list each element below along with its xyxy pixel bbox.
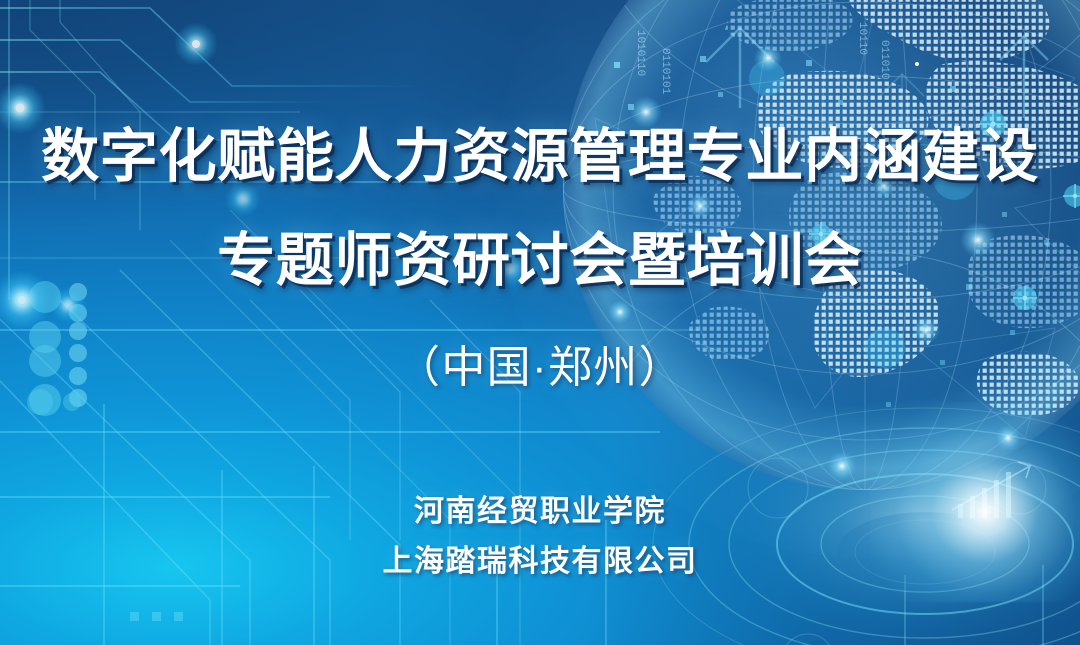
banner-text: 数字化赋能人力资源管理专业内涵建设 专题师资研讨会暨培训会 （中国·郑州） 河南…: [0, 0, 1080, 645]
title-line-2: 专题师资研讨会暨培训会: [0, 232, 1080, 290]
location-subtitle: （中国·郑州）: [0, 346, 1080, 390]
organizer-primary: 河南经贸职业学院: [0, 497, 1080, 527]
title-line-1: 数字化赋能人力资源管理专业内涵建设: [0, 128, 1080, 186]
organizer-secondary: 上海踏瑞科技有限公司: [0, 547, 1080, 577]
conference-banner: 1010110 0110101 10110 011010: [0, 0, 1080, 645]
